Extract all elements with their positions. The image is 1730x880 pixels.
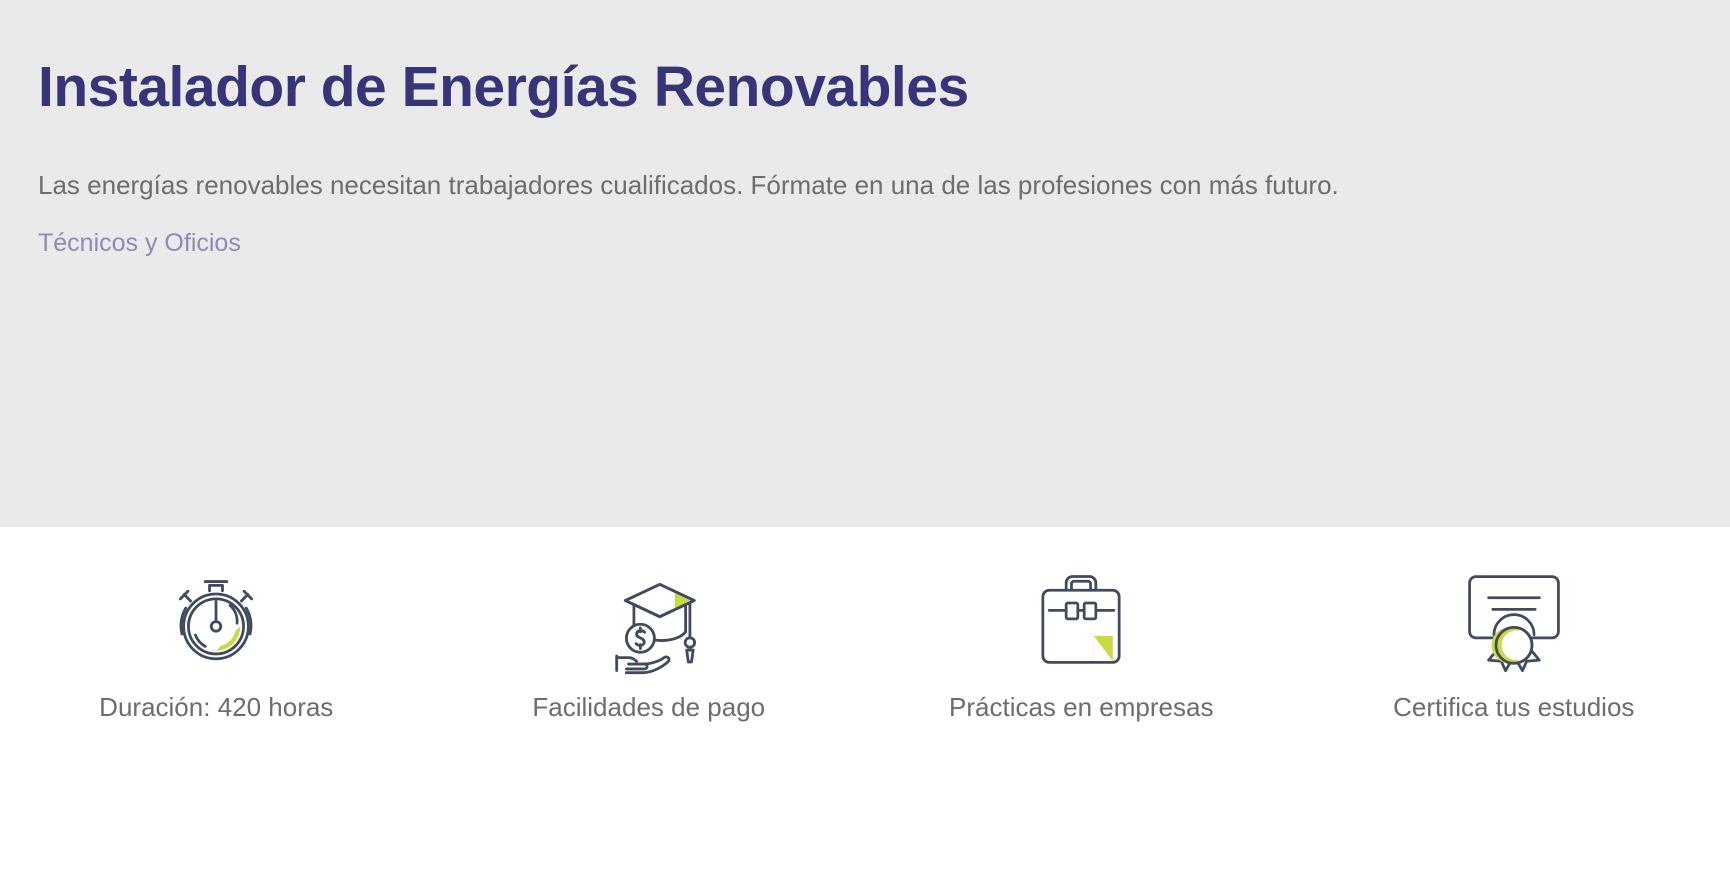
page-title: Instalador de Energías Renovables <box>38 56 1692 120</box>
stopwatch-icon <box>156 565 276 677</box>
feature-item-certificate: Certifica tus estudios <box>1298 565 1730 725</box>
hero-description: Las energías renovables necesitan trabaj… <box>38 164 1398 206</box>
feature-label: Certifica tus estudios <box>1393 691 1634 725</box>
category-link[interactable]: Técnicos y Oficios <box>38 226 241 261</box>
features-section: Duración: 420 horas <box>0 527 1730 880</box>
certificate-icon <box>1454 565 1574 677</box>
feature-label: Facilidades de pago <box>532 691 765 725</box>
feature-item-payment: Facilidades de pago <box>433 565 866 725</box>
hero-section: Instalador de Energías Renovables Las en… <box>0 0 1730 527</box>
feature-item-duration: Duración: 420 horas <box>0 565 433 725</box>
feature-item-internships: Prácticas en empresas <box>865 565 1298 725</box>
graduation-cap-payment-icon <box>589 565 709 677</box>
briefcase-icon <box>1021 565 1141 677</box>
feature-label: Prácticas en empresas <box>949 691 1213 725</box>
feature-label: Duración: 420 horas <box>99 691 333 725</box>
